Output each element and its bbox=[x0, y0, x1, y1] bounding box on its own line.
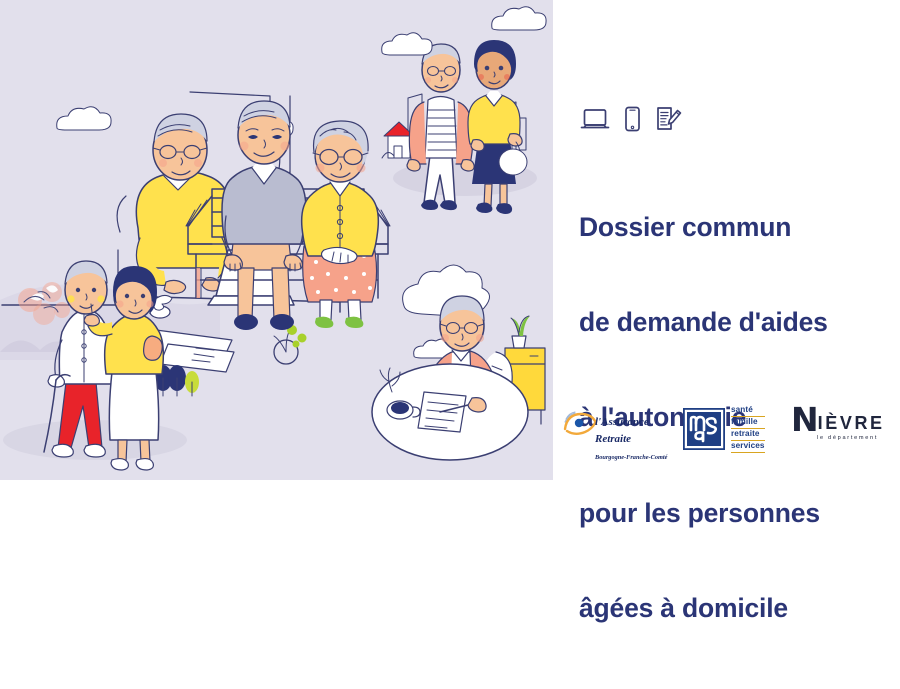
laptop-icon bbox=[580, 108, 610, 132]
msa-word-2: retraite bbox=[731, 429, 765, 441]
nievre-word: IÈVRE bbox=[818, 414, 885, 433]
assurance-retraite-swoosh-icon bbox=[563, 411, 597, 442]
device-icons-row bbox=[580, 105, 682, 132]
document-pencil-icon bbox=[655, 105, 682, 132]
title-line-2: de demande d'aides bbox=[579, 307, 899, 339]
title-line-1: Dossier commun bbox=[579, 212, 899, 244]
illustration-panel: .ln{fill:none;stroke:#3b3f72;stroke-widt… bbox=[0, 0, 553, 480]
msa-logo: santé famille retraite services bbox=[683, 406, 779, 452]
nievre-initial: N bbox=[791, 407, 818, 433]
msa-word-0: santé bbox=[731, 405, 765, 417]
assurance-retraite-line2: Retraite bbox=[595, 433, 631, 445]
assurance-retraite-region: Bourgogne-Franche-Comté bbox=[595, 454, 667, 461]
msa-word-1: famille bbox=[731, 417, 765, 429]
content-panel: Dossier commun de demande d'aides à l'au… bbox=[553, 0, 900, 480]
nievre-tagline: le département bbox=[817, 435, 900, 441]
msa-mark-icon bbox=[683, 408, 725, 450]
smartphone-icon bbox=[624, 106, 641, 132]
assurance-retraite-line1: l'Assurance bbox=[595, 416, 649, 428]
nievre-logo: N IÈVRE le département bbox=[791, 407, 900, 451]
assurance-retraite-logo: l'Assurance Retraite Bourgogne-Franche-C… bbox=[561, 403, 669, 455]
title-line-4: pour les personnes bbox=[579, 498, 899, 530]
msa-wordlist: santé famille retraite services bbox=[731, 405, 765, 453]
title-line-5: âgées à domicile bbox=[579, 593, 899, 625]
partner-logos: l'Assurance Retraite Bourgogne-Franche-C… bbox=[561, 400, 891, 458]
msa-word-3: services bbox=[731, 441, 765, 453]
poster: .ln{fill:none;stroke:#3b3f72;stroke-widt… bbox=[0, 0, 900, 480]
